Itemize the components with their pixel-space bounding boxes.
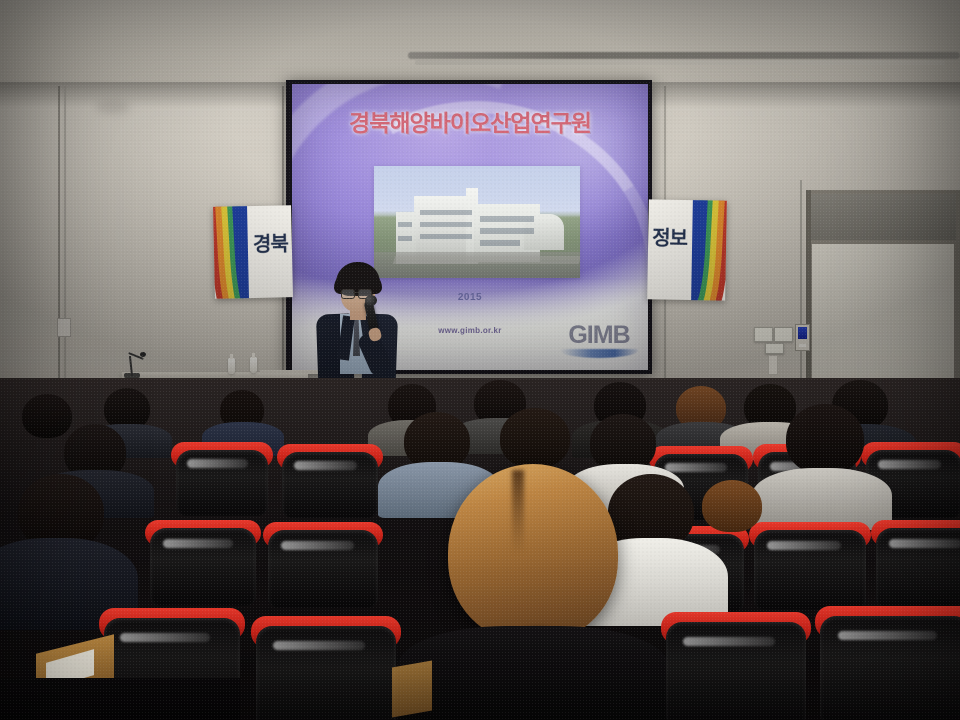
- auditorium-seat[interactable]: [256, 626, 396, 720]
- audience-head: [22, 394, 72, 438]
- auditorium-seat[interactable]: [176, 450, 268, 516]
- light-switch-plate[interactable]: [754, 327, 773, 342]
- gooseneck-microphone-head: [140, 352, 146, 357]
- ceiling-track-highlight: [415, 60, 945, 65]
- light-switch-plate[interactable]: [774, 327, 793, 342]
- light-switch-plate[interactable]: [765, 343, 784, 354]
- banner-right: 정보: [647, 199, 727, 300]
- foreground-shoulders: [398, 626, 668, 720]
- auditorium-presentation-photo: 경북해양바이오산업연구원 2015 www.gimb.or.kr GIMB: [0, 0, 960, 720]
- foreground-audience-head: [448, 464, 618, 642]
- audience-head: [702, 480, 762, 532]
- ceiling-track: [408, 52, 960, 59]
- wall-seam-plate: [57, 318, 71, 337]
- wall-smudge: [96, 100, 130, 114]
- tablet-desk-surface: [392, 660, 432, 717]
- banner-left-text: 경북: [253, 227, 288, 257]
- audience-shoulders: [752, 468, 892, 530]
- wall-conduit: [768, 355, 778, 375]
- foreground-seat-silhouette: [0, 678, 240, 720]
- auditorium-seat[interactable]: [754, 530, 866, 610]
- auditorium-seat[interactable]: [268, 530, 378, 608]
- auditorium-seat[interactable]: [876, 528, 960, 608]
- banner-left: 경북: [213, 205, 293, 299]
- glasses-icon: [341, 289, 355, 299]
- foreground-hair-parting: [512, 470, 524, 554]
- auditorium-seat[interactable]: [282, 452, 378, 518]
- wall-seam: [58, 86, 60, 416]
- wall-seam: [64, 86, 66, 416]
- banner-rainbow-graphic: [691, 200, 727, 301]
- banner-rainbow-graphic: [213, 206, 249, 299]
- auditorium-seat[interactable]: [150, 528, 256, 606]
- transom-window: [810, 194, 956, 240]
- auditorium-seat[interactable]: [820, 616, 960, 720]
- audience-head: [786, 404, 864, 474]
- glasses-bridge: [353, 292, 359, 293]
- water-bottle: [228, 358, 235, 374]
- card-reader-icon[interactable]: [795, 324, 810, 351]
- auditorium-seat[interactable]: [666, 622, 806, 720]
- water-bottle: [250, 357, 257, 373]
- audience-area: [0, 378, 960, 720]
- audience-head: [500, 408, 570, 468]
- ceiling: [0, 0, 960, 86]
- banner-right-text: 정보: [652, 221, 687, 251]
